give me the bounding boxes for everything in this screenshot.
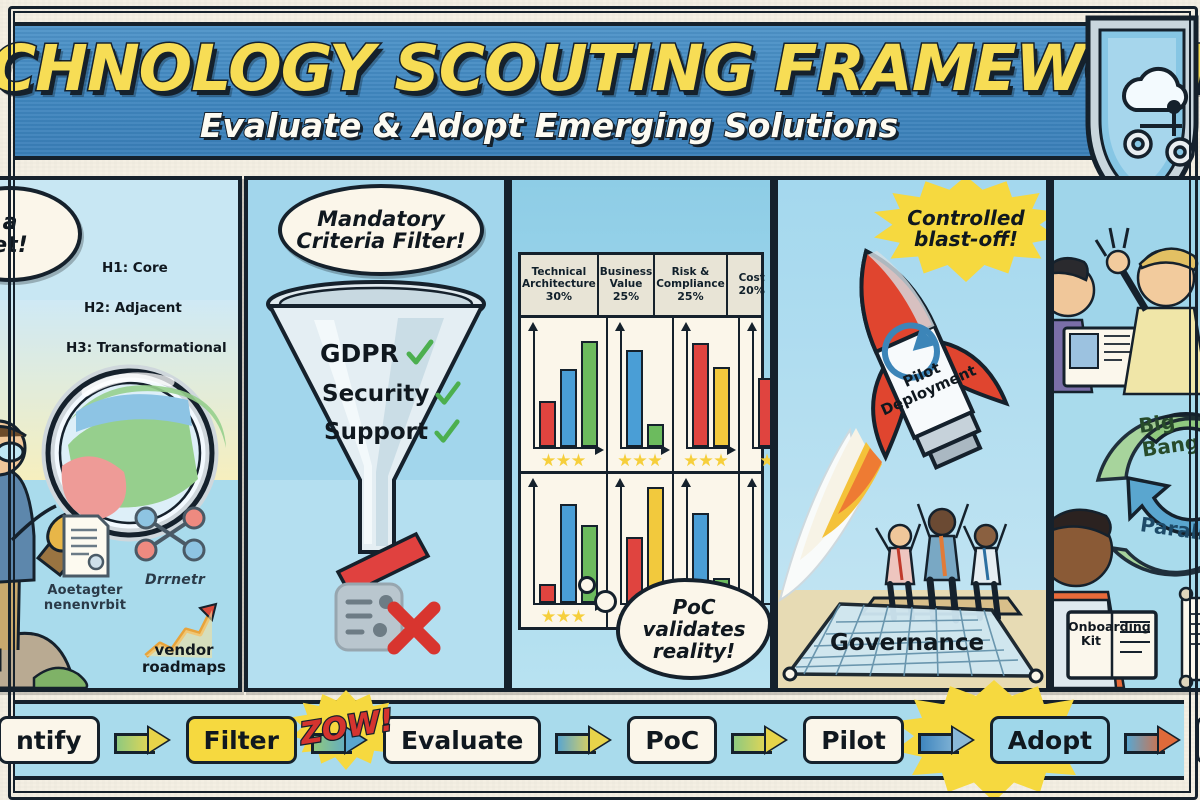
flow-arrow-4 (731, 727, 789, 753)
flow-step-filter-label: Filter (204, 726, 279, 755)
flow-arrow-1 (114, 727, 172, 753)
flow-arrow-6 (1124, 727, 1182, 753)
flow-step-adopt[interactable]: Adopt (990, 716, 1110, 764)
flow-arrow-3 (555, 727, 613, 753)
flow-step-adopt-label: Adopt (1008, 726, 1092, 755)
flow-step-measure[interactable]: Mea (1196, 716, 1200, 764)
flow-step-poc[interactable]: PoC (627, 716, 717, 764)
flow-step-evaluate-label: Evaluate (401, 726, 523, 755)
flow-step-identify[interactable]: ntify (0, 716, 100, 764)
flow-step-filter[interactable]: Filter (186, 716, 297, 764)
flow-step-pilot[interactable]: Pilot (803, 716, 904, 764)
poster-frame-inner (13, 11, 1191, 793)
flow-step-identify-label: ntify (16, 726, 82, 755)
flow-arrow-5 (918, 727, 976, 753)
poster-root: CHNOLOGY SCOUTING FRAMEWORK Evaluate & A… (0, 0, 1200, 800)
flow-step-evaluate[interactable]: Evaluate (383, 716, 541, 764)
flow-step-pilot-label: Pilot (821, 726, 886, 755)
flow-step-poc-label: PoC (645, 726, 699, 755)
